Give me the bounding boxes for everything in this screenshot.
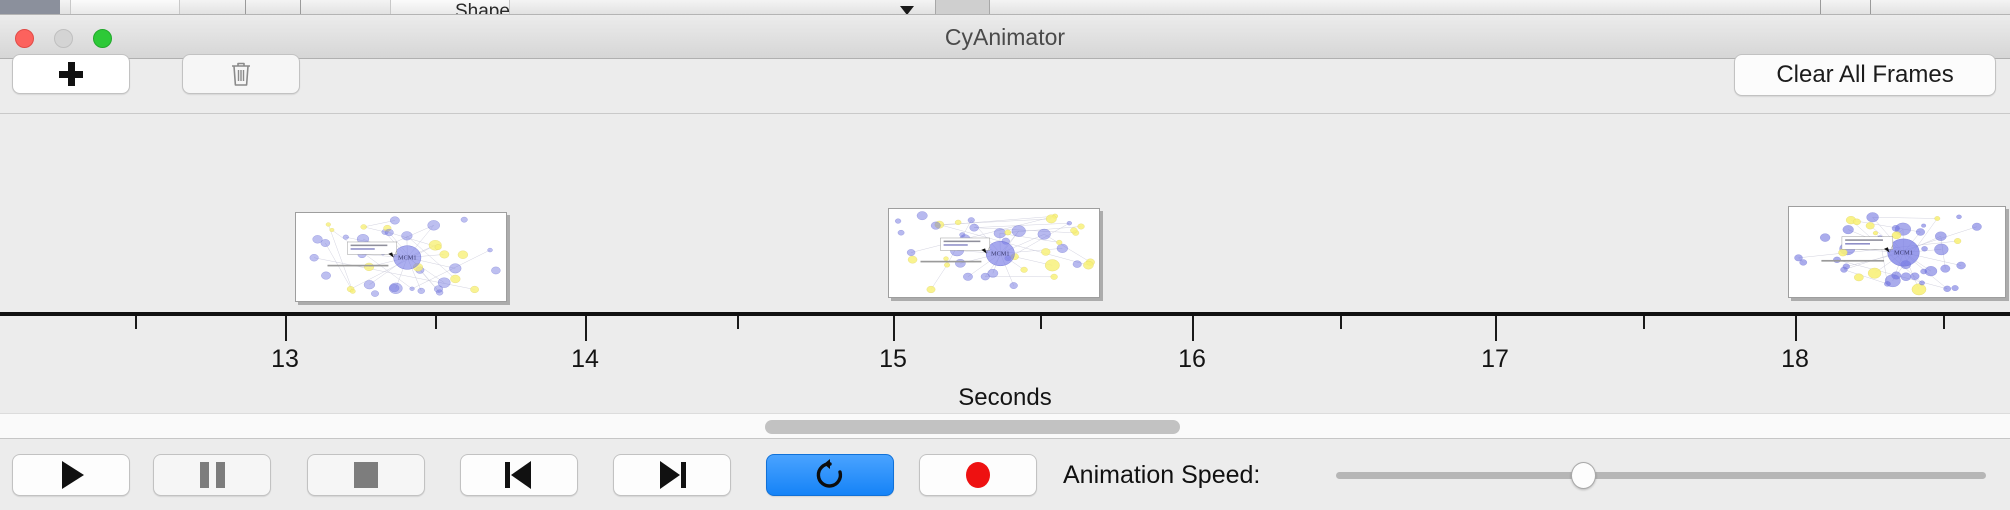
clear-all-frames-button[interactable]: Clear All Frames <box>1734 54 1996 96</box>
delete-frame-button[interactable] <box>182 54 300 94</box>
axis-tick-major <box>285 316 287 341</box>
axis-tick-minor <box>135 316 137 329</box>
background-strip-tick <box>300 0 301 15</box>
axis-tick-minor <box>435 316 437 329</box>
play-icon <box>62 461 84 489</box>
stop-button[interactable] <box>307 454 425 496</box>
timeline-scrollbar-thumb[interactable] <box>765 420 1180 434</box>
timeline-scrollbar-track[interactable] <box>0 413 2010 439</box>
axis-tick-minor <box>1340 316 1342 329</box>
window-title: CyAnimator <box>0 15 2010 59</box>
background-caret-icon <box>900 6 914 15</box>
animation-speed-slider-thumb[interactable] <box>1571 462 1596 489</box>
animation-speed-label: Animation Speed: <box>1063 454 1260 496</box>
record-icon <box>966 462 990 488</box>
background-window-label: Shape <box>455 1 510 15</box>
loop-button[interactable] <box>766 454 894 496</box>
svg-text:MCM1: MCM1 <box>398 255 417 262</box>
record-button[interactable] <box>919 454 1037 496</box>
axis-tick-major <box>585 316 587 341</box>
axis-tick-minor <box>737 316 739 329</box>
frame-thumbnail[interactable]: MCM1 <box>295 212 507 302</box>
background-strip-segment <box>70 0 180 15</box>
axis-tick-major <box>893 316 895 341</box>
trash-icon <box>230 61 252 87</box>
pause-button[interactable] <box>153 454 271 496</box>
axis-tick-label: 13 <box>271 345 299 374</box>
play-button[interactable] <box>12 454 130 496</box>
timeline-axis: 2131415161718 Seconds <box>0 312 2010 407</box>
animation-speed-slider[interactable] <box>1336 472 1986 479</box>
background-strip-tick <box>1820 0 1821 15</box>
skip-forward-icon <box>658 461 686 489</box>
frame-thumbnail[interactable]: MCM1 <box>1788 206 2006 298</box>
axis-tick-label: 17 <box>1481 345 1509 374</box>
svg-text:MCM1: MCM1 <box>1894 250 1913 257</box>
background-window-strip: Shape <box>0 0 2010 15</box>
axis-tick-major <box>1795 316 1797 341</box>
background-strip-box <box>935 0 990 15</box>
axis-line <box>0 312 2010 316</box>
svg-text:MCM1: MCM1 <box>991 251 1010 258</box>
stop-icon <box>354 462 378 488</box>
cyanimator-window: Shape CyAnimator Clear All Frames MCM1 M… <box>0 0 2010 510</box>
axis-tick-minor <box>1040 316 1042 329</box>
background-strip-tick <box>1870 0 1871 15</box>
frame-thumbnail[interactable]: MCM1 <box>888 208 1100 298</box>
axis-tick-minor <box>1643 316 1645 329</box>
skip-back-icon <box>505 461 533 489</box>
axis-tick-label: 16 <box>1178 345 1206 374</box>
toolbar <box>0 59 2010 114</box>
loop-icon <box>815 459 845 491</box>
background-strip-tick <box>245 0 246 15</box>
axis-tick-label: 14 <box>571 345 599 374</box>
previous-frame-button[interactable] <box>460 454 578 496</box>
axis-title: Seconds <box>0 384 2010 412</box>
next-frame-button[interactable] <box>613 454 731 496</box>
transport-bar: Animation Speed: <box>0 440 2010 510</box>
plus-icon <box>59 62 83 86</box>
add-frame-button[interactable] <box>12 54 130 94</box>
background-strip-dark-block <box>0 0 60 15</box>
axis-tick-label: 15 <box>879 345 907 374</box>
axis-tick-major <box>1192 316 1194 341</box>
axis-tick-label: 18 <box>1781 345 1809 374</box>
axis-tick-minor <box>1943 316 1945 329</box>
axis-tick-major <box>1495 316 1497 341</box>
pause-icon <box>200 462 225 488</box>
title-bar: CyAnimator <box>0 15 2010 59</box>
